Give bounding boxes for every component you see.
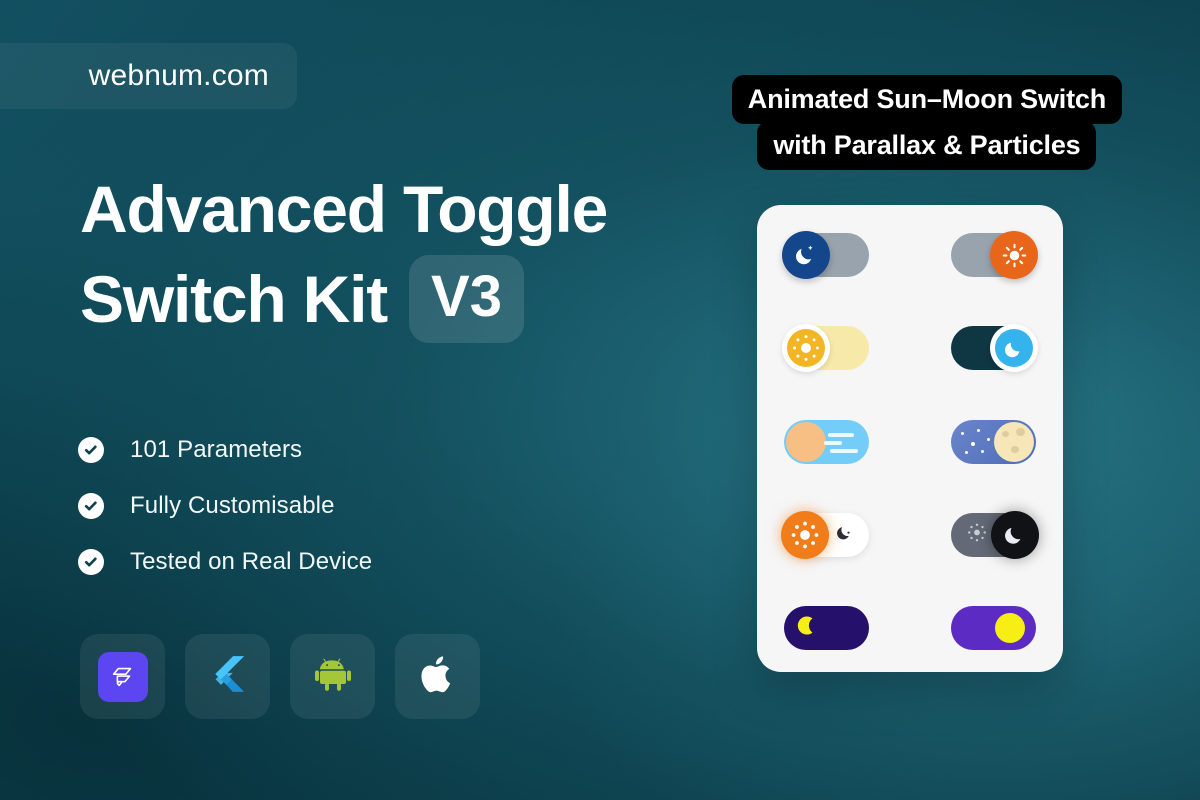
platform-flutter[interactable]	[185, 634, 270, 719]
crater-icon	[1002, 431, 1009, 437]
moon-icon	[995, 329, 1033, 367]
toggle-orange-sun[interactable]	[951, 233, 1036, 277]
toggle-knob	[994, 422, 1034, 462]
toggle-knob	[782, 231, 830, 279]
title-text-2: Switch Kit	[80, 254, 387, 344]
crescent-icon	[793, 612, 819, 645]
brand-badge: webnum.com	[0, 43, 297, 109]
toggle-row-2	[757, 326, 1063, 370]
toggle-preview-panel	[757, 205, 1063, 672]
title-line-1: Advanced Toggle	[80, 164, 720, 254]
toggle-navy-moon[interactable]	[784, 233, 869, 277]
feature-list: 101 Parameters Fully Customisable Tested…	[78, 422, 372, 590]
toggle-knob	[786, 422, 826, 462]
toggle-row-1	[757, 233, 1063, 277]
motion-line-icon	[824, 441, 842, 445]
toggle-indigo-moon[interactable]	[784, 606, 869, 650]
toggle-sky-sun[interactable]	[784, 420, 869, 464]
title-text-1: Advanced Toggle	[80, 164, 607, 254]
crater-icon	[1011, 446, 1019, 453]
platform-android[interactable]	[290, 634, 375, 719]
star-icon	[981, 450, 984, 453]
sun-disc-icon	[995, 613, 1025, 643]
platform-badges	[80, 634, 480, 719]
toggle-knob	[782, 324, 830, 372]
check-circle-icon	[78, 549, 104, 575]
toggle-row-3	[757, 420, 1063, 464]
callout-line-1: Animated Sun–Moon Switch	[732, 75, 1122, 124]
toggle-row-5	[757, 606, 1063, 650]
check-circle-icon	[78, 437, 104, 463]
platform-flutterflow[interactable]	[80, 634, 165, 719]
android-icon	[313, 654, 353, 699]
toggle-purple-sun[interactable]	[951, 606, 1036, 650]
version-badge: V3	[409, 255, 524, 343]
feature-label: Tested on Real Device	[130, 548, 372, 576]
callout-line-2: with Parallax & Particles	[757, 121, 1096, 170]
star-icon	[987, 438, 990, 441]
moon-glyph-icon	[835, 522, 855, 547]
list-item: 101 Parameters	[78, 422, 372, 478]
star-icon	[971, 442, 975, 446]
toggle-knob	[991, 511, 1039, 559]
crater-icon	[1016, 428, 1025, 436]
toggle-slate-sunmoon[interactable]	[951, 513, 1036, 557]
toggle-teal-moon[interactable]	[951, 326, 1036, 370]
brand-name: webnum.com	[89, 59, 269, 93]
apple-icon	[419, 652, 457, 702]
flutter-icon	[207, 653, 249, 700]
toggle-yellow-sun[interactable]	[784, 326, 869, 370]
flutterflow-icon	[98, 652, 148, 702]
star-icon	[961, 432, 964, 435]
feature-label: 101 Parameters	[130, 436, 302, 464]
star-icon	[977, 429, 980, 432]
toggle-knob	[990, 231, 1038, 279]
motion-line-icon	[830, 449, 858, 453]
toggle-knob	[781, 511, 829, 559]
sun-dotted-icon	[787, 329, 825, 367]
feature-label: Fully Customisable	[130, 492, 335, 520]
toggle-knob	[990, 324, 1038, 372]
platform-apple[interactable]	[395, 634, 480, 719]
moon-dark-icon	[1002, 522, 1028, 548]
toggle-white-sunmoon[interactable]	[784, 513, 869, 557]
toggle-row-4	[757, 513, 1063, 557]
motion-line-icon	[828, 433, 854, 437]
sun-glow-icon	[787, 517, 823, 553]
check-circle-icon	[78, 493, 104, 519]
page-title: Advanced Toggle Switch Kit V3	[80, 164, 720, 344]
star-icon	[965, 451, 968, 454]
list-item: Fully Customisable	[78, 478, 372, 534]
callout-label: Animated Sun–Moon Switch with Parallax &…	[732, 75, 1122, 170]
title-line-2: Switch Kit V3	[80, 254, 720, 344]
moon-star-icon	[793, 242, 819, 268]
toggle-night-moon[interactable]	[951, 420, 1036, 464]
sun-glyph-icon	[965, 520, 989, 549]
sun-rays-icon	[1001, 242, 1028, 269]
list-item: Tested on Real Device	[78, 534, 372, 590]
